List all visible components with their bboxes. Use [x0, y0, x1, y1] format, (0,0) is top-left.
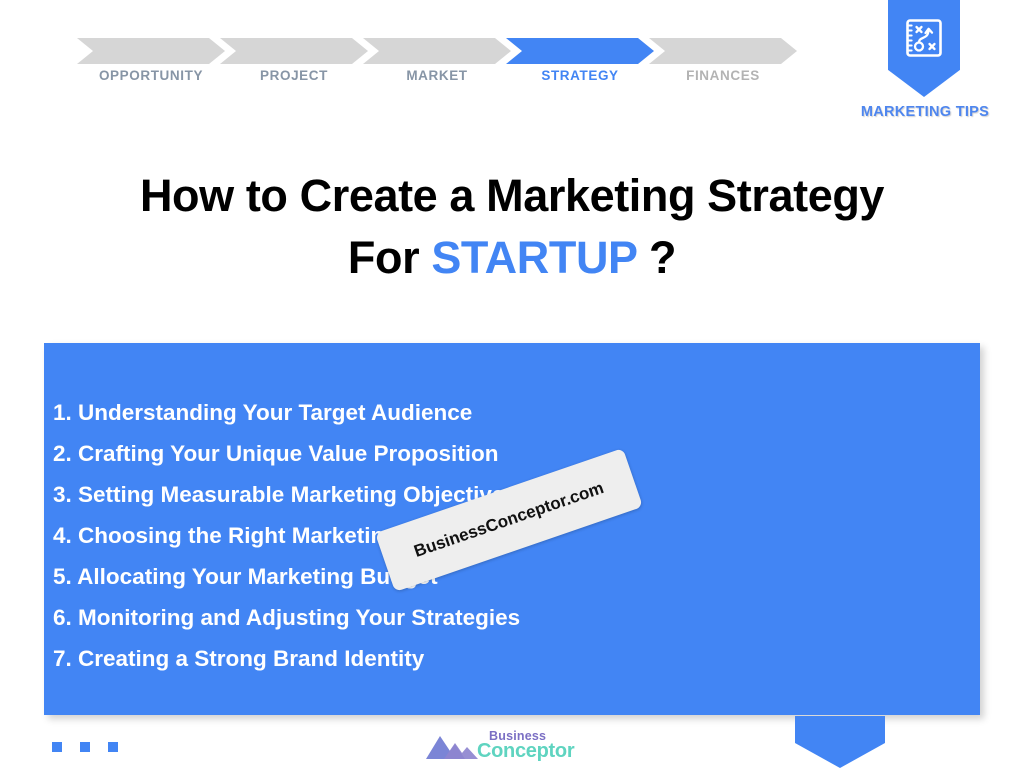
stepper-item-opportunity[interactable]: OPPORTUNITY [77, 38, 225, 90]
stepper-label-market: MARKET [363, 68, 511, 83]
title-line-1: How to Create a Marketing Strategy [62, 165, 962, 227]
title-suffix: ? [637, 232, 676, 283]
mountain-icon [424, 730, 480, 760]
title-highlight: STARTUP [431, 232, 637, 283]
dot-icon [80, 742, 90, 752]
stepper-item-project[interactable]: PROJECT [220, 38, 368, 90]
down-pennant-icon [795, 716, 885, 768]
title-line-2: For STARTUP ? [62, 227, 962, 289]
stepper-label-strategy: STRATEGY [506, 68, 654, 83]
list-item: 7. Creating a Strong Brand Identity [53, 638, 953, 679]
slide-canvas: OPPORTUNITY PROJECT MARKET STRATEGY FINA… [0, 0, 1024, 768]
brand-word-conceptor: Conceptor [477, 740, 574, 763]
list-item: 1. Understanding Your Target Audience [53, 392, 953, 433]
list-item: 6. Monitoring and Adjusting Your Strateg… [53, 597, 953, 638]
chevron-shape-opportunity [77, 38, 225, 64]
brand-logo[interactable]: Business Conceptor [424, 728, 572, 762]
stepper-item-finances[interactable]: FINANCES [649, 38, 797, 90]
stepper-item-market[interactable]: MARKET [363, 38, 511, 90]
chevron-shape-market [363, 38, 511, 64]
stepper-item-strategy[interactable]: STRATEGY [506, 38, 654, 90]
stepper-label-finances: FINANCES [649, 68, 797, 83]
chevron-shape-finances [649, 38, 797, 64]
stepper-label-project: PROJECT [220, 68, 368, 83]
stage-stepper: OPPORTUNITY PROJECT MARKET STRATEGY FINA… [77, 38, 807, 90]
marketing-tips-label: MARKETING TIPS [850, 104, 1000, 120]
dot-icon [52, 742, 62, 752]
page-title: How to Create a Marketing Strategy For S… [62, 165, 962, 289]
footer-dots [52, 742, 118, 752]
stepper-label-opportunity: OPPORTUNITY [77, 68, 225, 83]
strategy-playbook-icon [902, 16, 946, 60]
list-item: 5. Allocating Your Marketing Budget [53, 556, 953, 597]
title-prefix: For [348, 232, 431, 283]
chevron-shape-project [220, 38, 368, 64]
list-item: 2. Crafting Your Unique Value Propositio… [53, 433, 953, 474]
marketing-tips-badge: MARKETING TIPS [888, 0, 970, 132]
dot-icon [108, 742, 118, 752]
chevron-shape-strategy [506, 38, 654, 64]
brand-wordmark: Business Conceptor [477, 728, 577, 762]
